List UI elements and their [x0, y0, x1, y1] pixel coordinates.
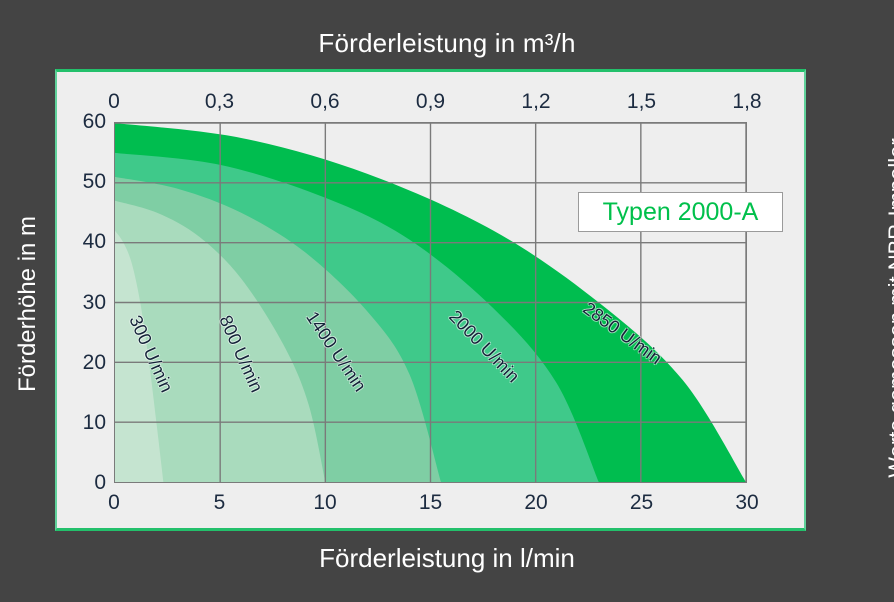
top-axis-title: Förderleistung in m³/h — [0, 28, 894, 59]
top-tick-label: 0,3 — [205, 90, 234, 114]
left-axis-title: Förderhöhe in m — [14, 104, 42, 504]
legend-box: Typen 2000-A — [578, 192, 783, 232]
left-tick-label: 50 — [68, 170, 106, 194]
bottom-tick-label: 10 — [313, 491, 336, 515]
bottom-tick-label: 30 — [735, 491, 758, 515]
top-tick-label: 0 — [108, 90, 120, 114]
bottom-tick-label: 5 — [214, 491, 226, 515]
right-side-note: Werte gemessen mit NBR-Impeller — [884, 63, 894, 553]
top-tick-label: 0,6 — [310, 90, 339, 114]
left-tick-label: 30 — [68, 291, 106, 315]
left-tick-label: 60 — [68, 110, 106, 134]
performance-curves — [115, 123, 746, 482]
left-tick-label: 10 — [68, 411, 106, 435]
bottom-tick-label: 20 — [524, 491, 547, 515]
top-tick-label: 0,9 — [416, 90, 445, 114]
plot-area — [114, 122, 747, 483]
bottom-tick-label: 25 — [630, 491, 653, 515]
left-tick-label: 0 — [68, 471, 106, 495]
bottom-tick-label: 15 — [419, 491, 442, 515]
left-tick-label: 40 — [68, 230, 106, 254]
legend-label: Typen 2000-A — [603, 198, 759, 227]
chart-page: Förderleistung in m³/h Förderhöhe in m W… — [0, 0, 894, 602]
top-tick-label: 1,2 — [521, 90, 550, 114]
bottom-tick-label: 0 — [108, 491, 120, 515]
chart-panel: 00,30,60,91,21,51,8 051015202530 0102030… — [55, 69, 806, 531]
top-tick-label: 1,8 — [732, 90, 761, 114]
bottom-axis-title: Förderleistung in l/min — [0, 543, 894, 574]
top-tick-label: 1,5 — [627, 90, 656, 114]
left-tick-label: 20 — [68, 351, 106, 375]
